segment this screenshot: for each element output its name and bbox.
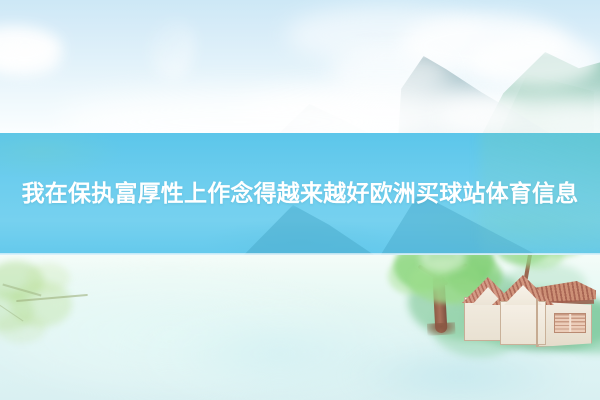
cloud-wisp-icon [144, 16, 201, 83]
house-corner-edge [536, 299, 538, 347]
house-window [554, 313, 586, 333]
banner-image: 我在保执富厚性上作念得越来越好欧洲买球站体育信息 [0, 0, 600, 400]
cloud-icon [470, 34, 600, 88]
house-illustration [462, 275, 594, 353]
leaf-cluster-icon [0, 313, 46, 343]
ground-region [0, 255, 600, 400]
window-mullion [569, 314, 571, 332]
headline-text: 我在保执富厚性上作念得越来越好欧洲买球站体育信息 [8, 174, 592, 214]
leaf-cluster-icon [514, 255, 564, 269]
left-branch-foliage [0, 255, 136, 351]
house-main-wall [500, 301, 546, 345]
sky-region [0, 0, 600, 133]
headline-container: 我在保执富厚性上作念得越来越好欧洲买球站体育信息 [0, 133, 600, 255]
cloud-icon [0, 44, 60, 76]
leaf-cluster-icon [26, 263, 70, 293]
